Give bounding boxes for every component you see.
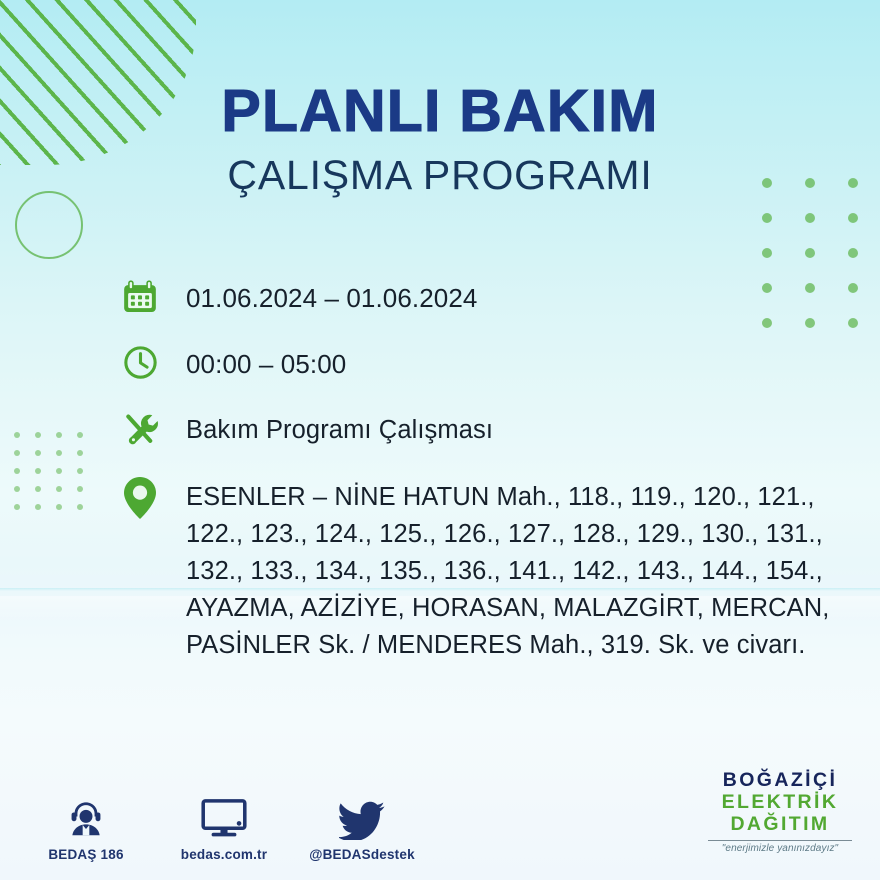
location-text: ESENLER – NİNE HATUN Mah., 118., 119., 1… <box>162 474 860 664</box>
contact-website-label: bedas.com.tr <box>181 847 267 862</box>
time-range-text: 00:00 – 05:00 <box>162 342 346 382</box>
tools-icon <box>118 408 162 456</box>
contact-channels: BEDAŞ 186 bedas.com.tr <box>34 794 414 862</box>
logo-line-elektrik: ELEKTRİK <box>702 792 858 814</box>
page-title: PLANLI BAKIM <box>0 82 880 141</box>
contact-phone-label: BEDAŞ 186 <box>48 847 123 862</box>
logo-divider <box>708 840 852 842</box>
call-center-agent-icon <box>65 794 107 840</box>
contact-phone[interactable]: BEDAŞ 186 <box>34 794 138 862</box>
poster-footer: BEDAŞ 186 bedas.com.tr <box>0 770 880 866</box>
contact-website[interactable]: bedas.com.tr <box>172 794 276 862</box>
work-type-text: Bakım Programı Çalışması <box>162 408 493 447</box>
info-row-work-type: Bakım Programı Çalışması <box>118 408 860 456</box>
logo-line-bogazici: BOĞAZİÇİ <box>702 770 858 792</box>
logo-tagline: "enerjimizle yanınızdayız" <box>702 843 858 854</box>
calendar-icon <box>118 276 162 324</box>
contact-twitter[interactable]: @BEDASdestek <box>310 794 414 862</box>
twitter-bird-icon <box>339 794 385 840</box>
logo-line-dagitim: DAĞITIM <box>702 814 858 836</box>
planned-maintenance-poster: PLANLI BAKIM ÇALIŞMA PROGRAMI <box>0 0 880 880</box>
dot-grid-left-decoration <box>14 432 98 522</box>
info-row-time: 00:00 – 05:00 <box>118 342 860 390</box>
poster-header: PLANLI BAKIM ÇALIŞMA PROGRAMI <box>0 82 880 196</box>
circle-outline-decoration <box>15 191 83 259</box>
date-range-text: 01.06.2024 – 01.06.2024 <box>162 276 477 316</box>
info-row-location: ESENLER – NİNE HATUN Mah., 118., 119., 1… <box>118 474 860 664</box>
info-row-date: 01.06.2024 – 01.06.2024 <box>118 276 860 324</box>
contact-twitter-label: @BEDASdestek <box>309 847 415 862</box>
info-list: 01.06.2024 – 01.06.2024 00:00 – 05:00 <box>118 276 860 664</box>
bedas-logo: BOĞAZİÇİ ELEKTRİK DAĞITIM "enerjimizle y… <box>702 770 858 854</box>
clock-icon <box>118 342 162 390</box>
page-subtitle: ÇALIŞMA PROGRAMI <box>0 155 880 196</box>
location-pin-icon <box>118 474 162 522</box>
monitor-icon <box>201 794 247 840</box>
